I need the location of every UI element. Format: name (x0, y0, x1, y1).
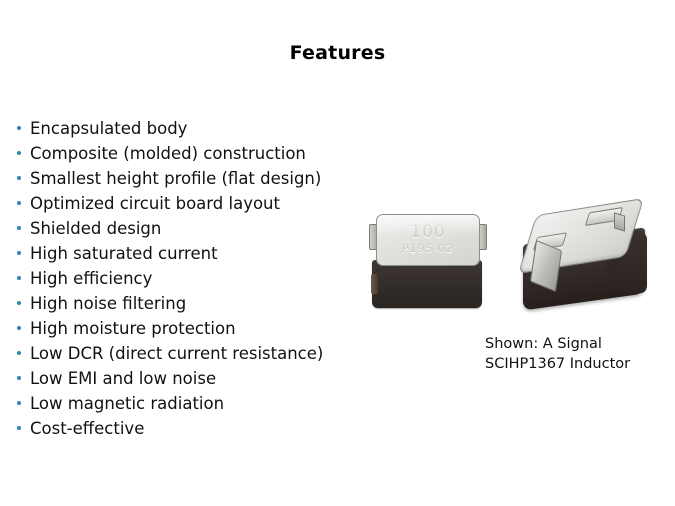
list-item: Smallest height profile (flat design) (14, 166, 414, 191)
list-item: High moisture protection (14, 316, 414, 341)
list-item: Encapsulated body (14, 116, 414, 141)
inductor-flat-view: 100 P195-02 (369, 212, 487, 310)
list-item: Shielded design (14, 216, 414, 241)
list-item-label: Cost-effective (30, 419, 144, 438)
list-item-label: Composite (molded) construction (30, 144, 306, 163)
inductor-marking-line1: 100 (377, 222, 479, 242)
inductor-marking-line2: P195-02 (377, 242, 479, 255)
list-item: Cost-effective (14, 416, 414, 441)
list-item-label: High moisture protection (30, 319, 236, 338)
list-item-label: Shielded design (30, 219, 161, 238)
list-item-label: High saturated current (30, 244, 218, 263)
bullet-dot-icon (17, 201, 21, 205)
bullet-dot-icon (17, 426, 21, 430)
bullet-dot-icon (17, 251, 21, 255)
list-item: Optimized circuit board layout (14, 191, 414, 216)
list-item: High saturated current (14, 241, 414, 266)
list-item-label: Low magnetic radiation (30, 394, 224, 413)
inductor-terminal-back-side (614, 212, 625, 231)
list-item-label: Optimized circuit board layout (30, 194, 280, 213)
list-item-label: High noise filtering (30, 294, 186, 313)
inductor-foot-left (371, 274, 378, 294)
inductor-top-surface: 100 P195-02 (376, 214, 480, 266)
list-item: High noise filtering (14, 291, 414, 316)
bullet-dot-icon (17, 151, 21, 155)
list-item: Low EMI and low noise (14, 366, 414, 391)
bullet-dot-icon (17, 351, 21, 355)
bullet-dot-icon (17, 276, 21, 280)
inductor-body (372, 260, 482, 308)
bullet-dot-icon (17, 326, 21, 330)
figure-caption-line1: Shown: A Signal (485, 334, 675, 354)
list-item: Low magnetic radiation (14, 391, 414, 416)
bullet-dot-icon (17, 176, 21, 180)
figure-caption: Shown: A Signal SCIHP1367 Inductor (485, 334, 675, 374)
bullet-dot-icon (17, 226, 21, 230)
list-item-label: Low EMI and low noise (30, 369, 216, 388)
list-item-label: High efficiency (30, 269, 152, 288)
slide-canvas: Features Encapsulated body Composite (mo… (0, 0, 675, 506)
list-item: Low DCR (direct current resistance) (14, 341, 414, 366)
inductor-perspective-view (515, 202, 655, 317)
list-item-label: Low DCR (direct current resistance) (30, 344, 323, 363)
bullet-dot-icon (17, 126, 21, 130)
inductor-product-photo: 100 P195-02 (355, 196, 665, 321)
figure-caption-line2: SCIHP1367 Inductor (485, 354, 675, 374)
bullet-dot-icon (17, 376, 21, 380)
list-item-label: Encapsulated body (30, 119, 187, 138)
bullet-dot-icon (17, 301, 21, 305)
features-bullet-list: Encapsulated body Composite (molded) con… (14, 116, 414, 441)
list-item: Composite (molded) construction (14, 141, 414, 166)
list-item-label: Smallest height profile (flat design) (30, 169, 321, 188)
list-item: High efficiency (14, 266, 414, 291)
bullet-dot-icon (17, 401, 21, 405)
page-title: Features (0, 42, 675, 64)
